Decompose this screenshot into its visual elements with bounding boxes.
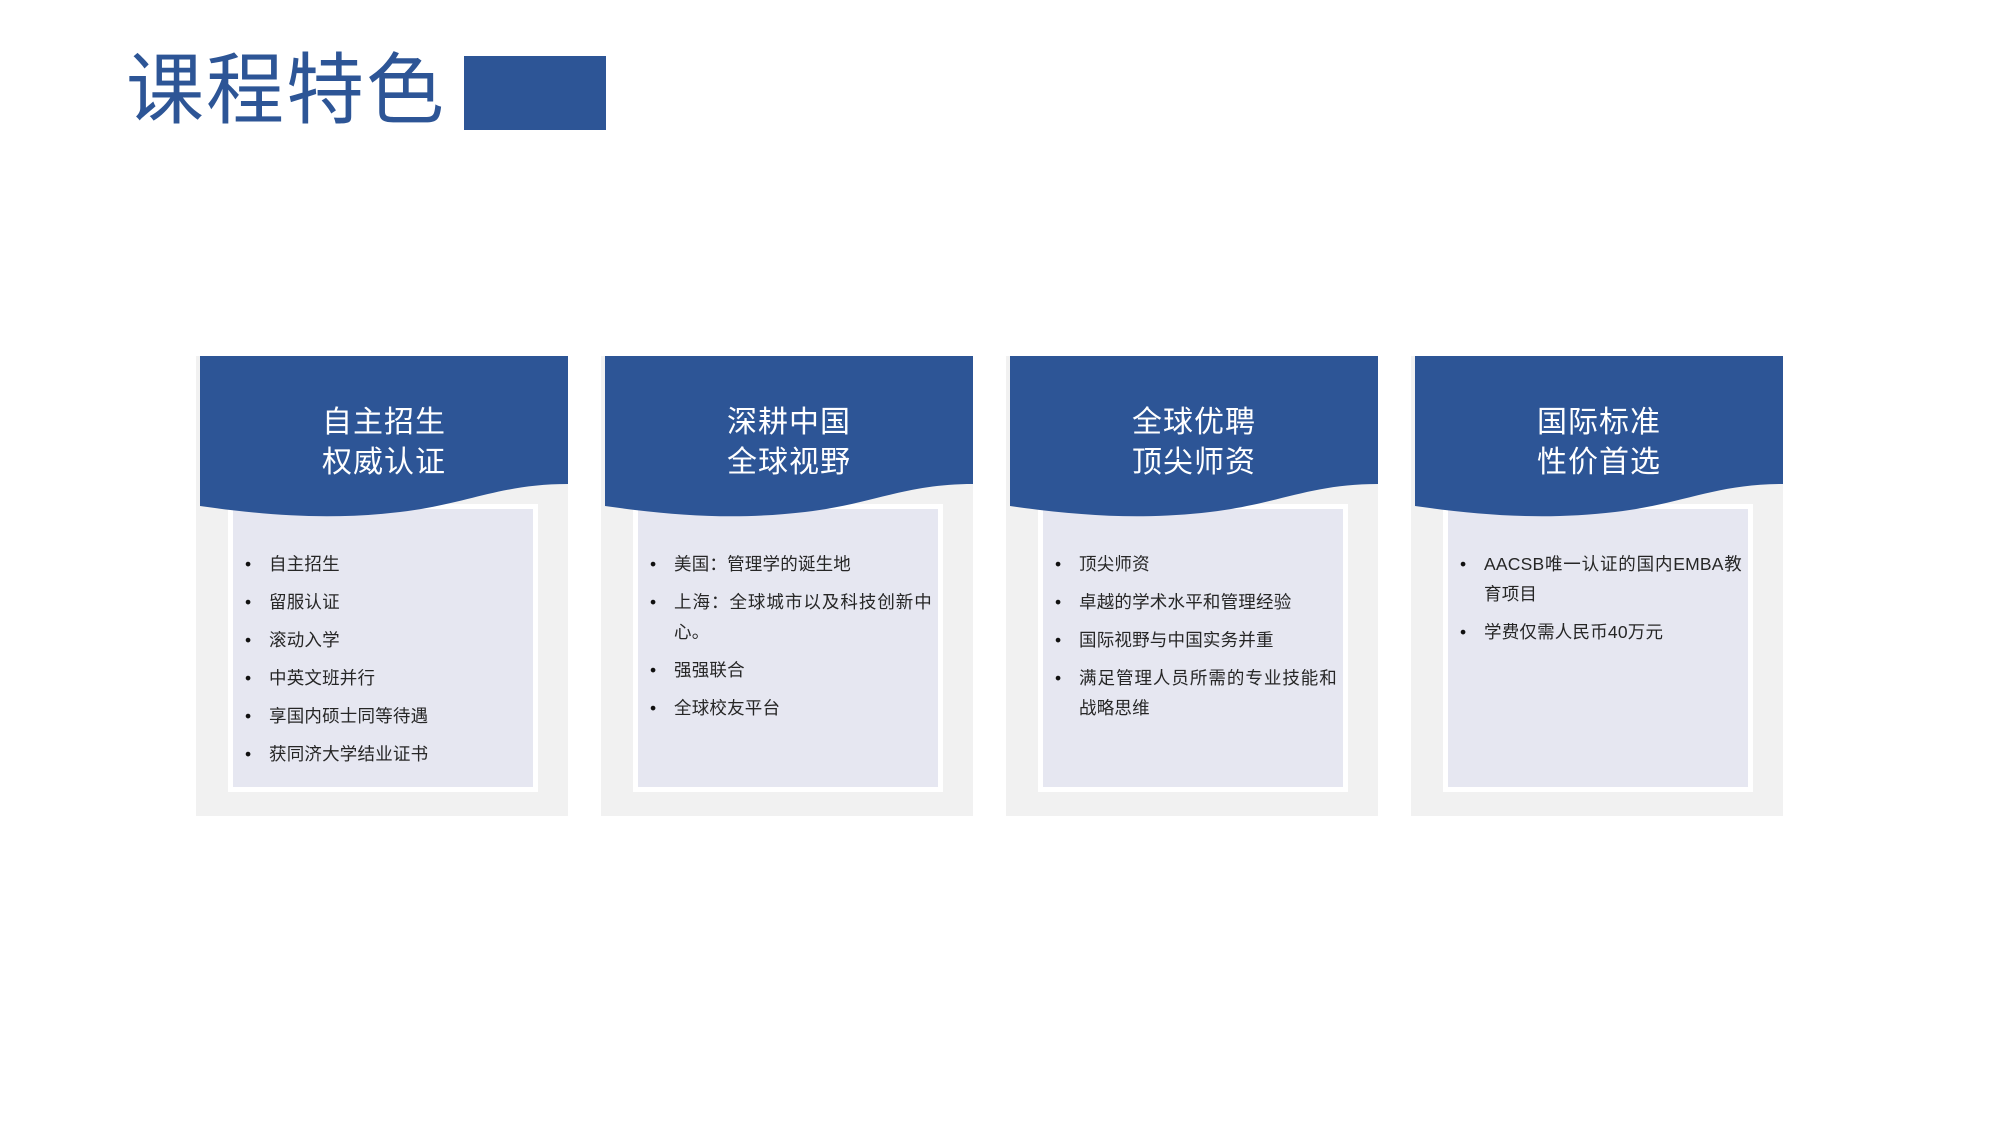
feature-cards-row: •自主招生•留服认证•滚动入学•中英文班并行•享国内硕士同等待遇•获同济大学结业…: [196, 356, 1816, 816]
slide-title-block: 课程特色: [126, 50, 606, 130]
bullet-dot-icon: •: [245, 663, 251, 693]
card-bullet-list: •自主招生•留服认证•滚动入学•中英文班并行•享国内硕士同等待遇•获同济大学结业…: [233, 549, 533, 778]
list-item: •顶尖师资: [1049, 549, 1337, 579]
bullet-dot-icon: •: [1460, 617, 1466, 647]
list-item-label: 上海：全球城市以及科技创新中心。: [674, 592, 932, 642]
list-item-label: 顶尖师资: [1079, 554, 1150, 574]
card-header: 深耕中国全球视野: [605, 356, 973, 531]
card-header: 全球优聘顶尖师资: [1010, 356, 1378, 531]
card-header: 国际标准性价首选: [1415, 356, 1783, 531]
bullet-dot-icon: •: [650, 655, 656, 685]
bullet-dot-icon: •: [1055, 549, 1061, 579]
bullet-dot-icon: •: [650, 587, 656, 617]
list-item: •滚动入学: [239, 625, 527, 655]
feature-card: •自主招生•留服认证•滚动入学•中英文班并行•享国内硕士同等待遇•获同济大学结业…: [196, 356, 568, 816]
list-item-label: 满足管理人员所需的专业技能和战略思维: [1079, 668, 1337, 718]
list-item: •AACSB唯一认证的国内EMBA教育项目: [1454, 549, 1742, 609]
list-item: • 学费仅需人民币40万元: [1454, 617, 1742, 647]
list-item: •全球校友平台: [644, 693, 932, 723]
list-item-label: 留服认证: [269, 592, 340, 612]
card-header: 自主招生权威认证: [200, 356, 568, 531]
bullet-dot-icon: •: [245, 701, 251, 731]
list-item-label: 国际视野与中国实务并重: [1079, 630, 1274, 650]
title-accent-bar: [464, 56, 606, 130]
list-item-label: 强强联合: [674, 660, 745, 680]
list-item-label: 自主招生: [269, 554, 340, 574]
list-item: •自主招生: [239, 549, 527, 579]
list-item: •国际视野与中国实务并重: [1049, 625, 1337, 655]
list-item: •上海：全球城市以及科技创新中心。: [644, 587, 932, 647]
bullet-dot-icon: •: [1460, 549, 1466, 579]
bullet-dot-icon: •: [1055, 663, 1061, 693]
feature-card: •美国：管理学的诞生地•上海：全球城市以及科技创新中心。•强强联合•全球校友平台…: [601, 356, 973, 816]
list-item: •获同济大学结业证书: [239, 739, 527, 769]
card-bullet-list: •美国：管理学的诞生地•上海：全球城市以及科技创新中心。•强强联合•全球校友平台: [638, 549, 938, 731]
bullet-dot-icon: •: [1055, 587, 1061, 617]
list-item-label: 滚动入学: [269, 630, 340, 650]
card-bullet-list: •AACSB唯一认证的国内EMBA教育项目• 学费仅需人民币40万元: [1448, 549, 1748, 655]
list-item: •满足管理人员所需的专业技能和战略思维: [1049, 663, 1337, 723]
card-bullet-list: •顶尖师资•卓越的学术水平和管理经验•国际视野与中国实务并重•满足管理人员所需的…: [1043, 549, 1343, 731]
bullet-dot-icon: •: [650, 549, 656, 579]
list-item: •留服认证: [239, 587, 527, 617]
bullet-dot-icon: •: [245, 549, 251, 579]
list-item-label: 中英文班并行: [269, 668, 375, 688]
list-item: •享国内硕士同等待遇: [239, 701, 527, 731]
bullet-dot-icon: •: [245, 625, 251, 655]
list-item-label: 享国内硕士同等待遇: [269, 706, 428, 726]
bullet-dot-icon: •: [245, 739, 251, 769]
list-item-label: 学费仅需人民币40万元: [1484, 622, 1663, 642]
list-item: •中英文班并行: [239, 663, 527, 693]
list-item: •强强联合: [644, 655, 932, 685]
list-item-label: 美国：管理学的诞生地: [674, 554, 851, 574]
page-title: 课程特色: [126, 51, 446, 129]
bullet-dot-icon: •: [1055, 625, 1061, 655]
list-item-label: 全球校友平台: [674, 698, 780, 718]
list-item-label: AACSB唯一认证的国内EMBA教育项目: [1484, 554, 1742, 604]
bullet-dot-icon: •: [650, 693, 656, 723]
list-item-label: 卓越的学术水平和管理经验: [1079, 592, 1291, 612]
list-item: •卓越的学术水平和管理经验: [1049, 587, 1337, 617]
list-item: •美国：管理学的诞生地: [644, 549, 932, 579]
feature-card: •AACSB唯一认证的国内EMBA教育项目• 学费仅需人民币40万元国际标准性价…: [1411, 356, 1783, 816]
list-item-label: 获同济大学结业证书: [269, 744, 428, 764]
feature-card: •顶尖师资•卓越的学术水平和管理经验•国际视野与中国实务并重•满足管理人员所需的…: [1006, 356, 1378, 816]
bullet-dot-icon: •: [245, 587, 251, 617]
